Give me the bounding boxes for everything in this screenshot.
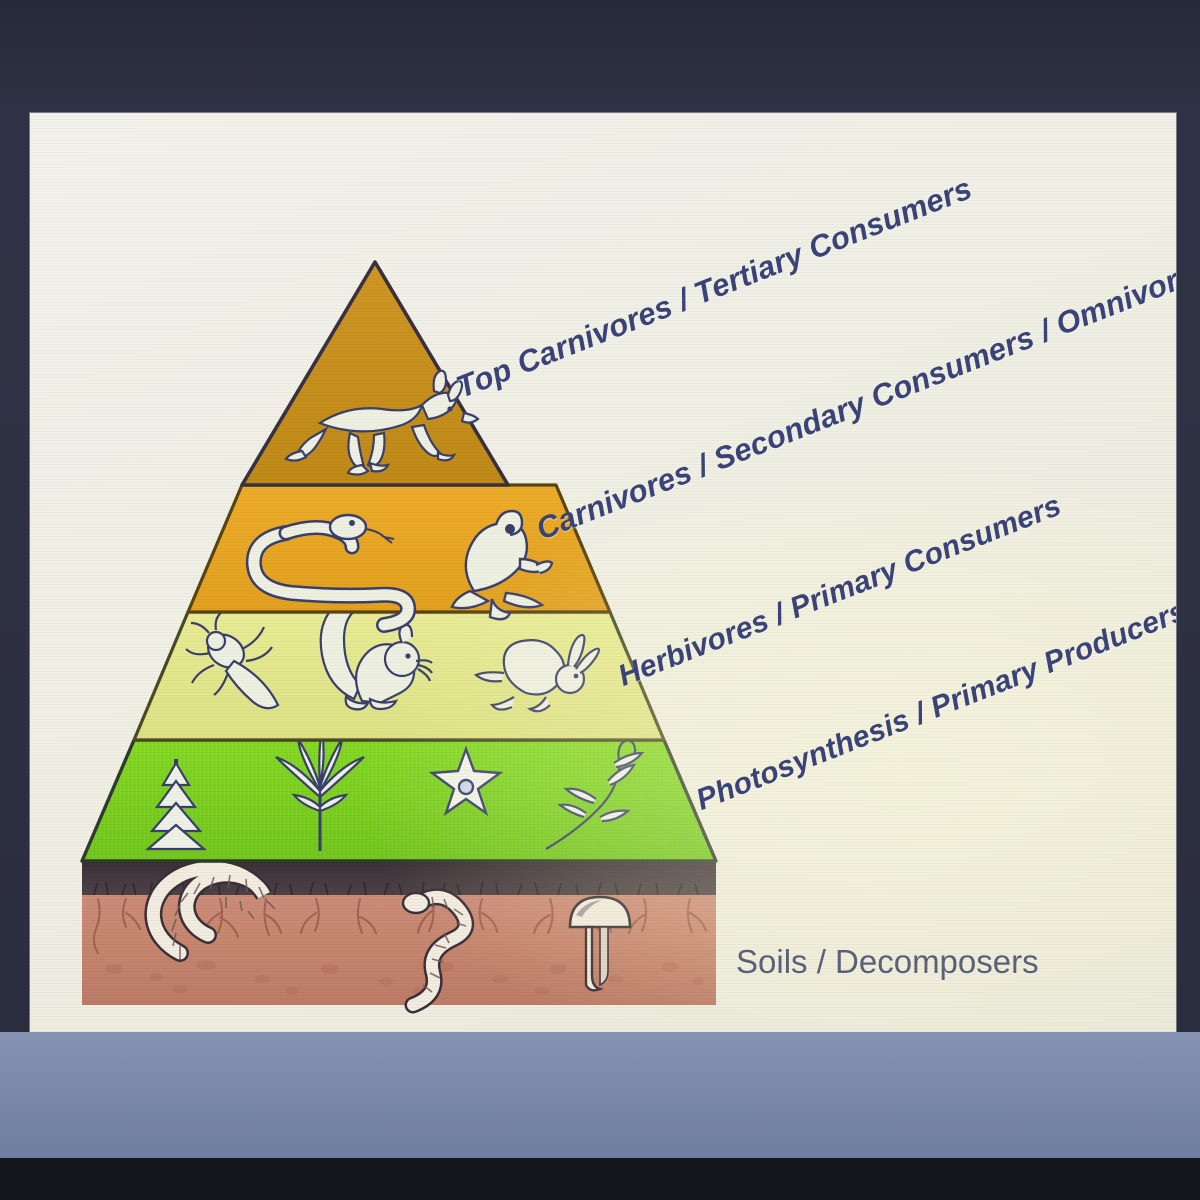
energy-pyramid-figure bbox=[30, 113, 1176, 1032]
screen-bottom-bar bbox=[0, 1158, 1200, 1200]
tier-2-carnivores bbox=[188, 485, 610, 625]
screen-lower-band bbox=[0, 1032, 1200, 1160]
label-soils-decomposers: Soils / Decomposers bbox=[736, 943, 1039, 981]
tier-4-producers bbox=[82, 731, 716, 861]
photographed-screen: Top Carnivores / Tertiary Consumers Carn… bbox=[0, 0, 1200, 1200]
slide-page: Top Carnivores / Tertiary Consumers Carn… bbox=[30, 113, 1176, 1032]
soil-block bbox=[82, 861, 716, 1005]
